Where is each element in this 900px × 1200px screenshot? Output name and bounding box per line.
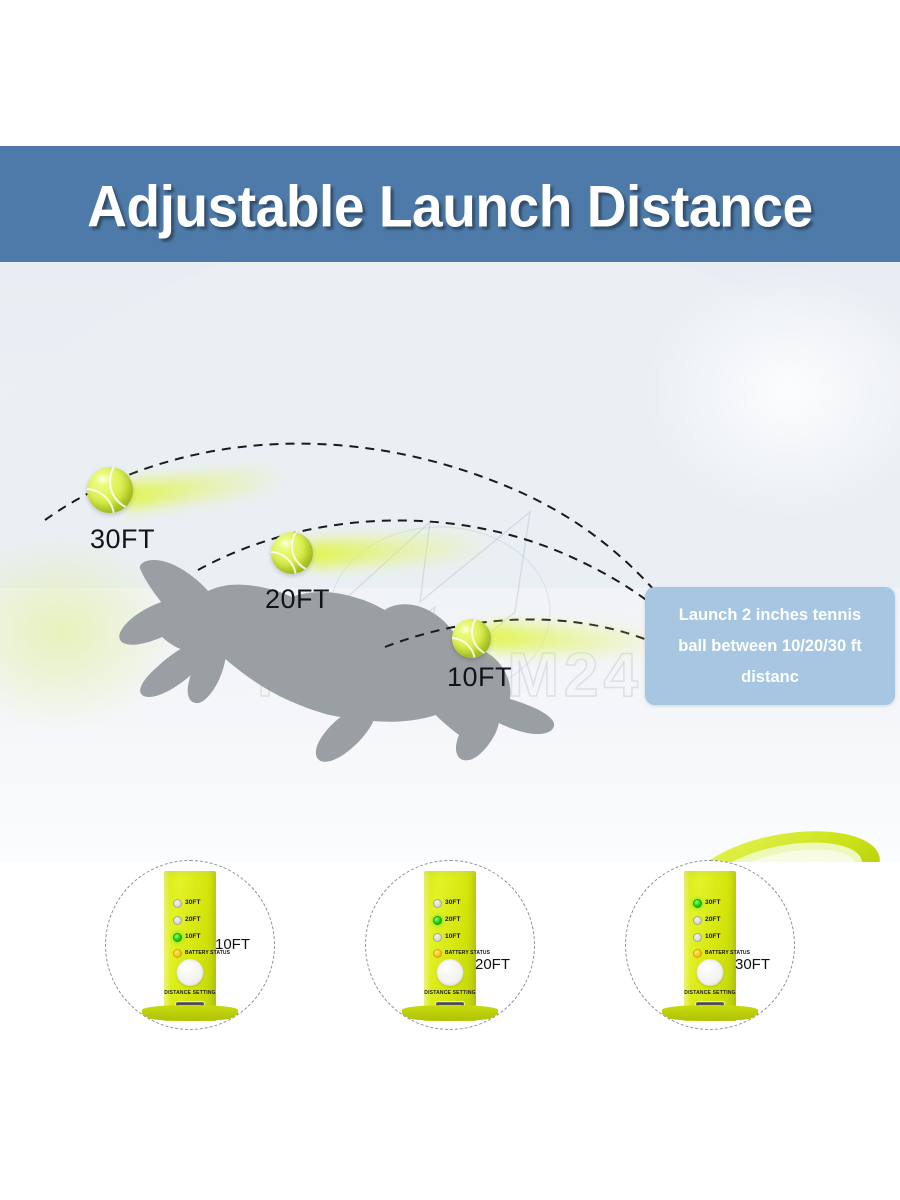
- distance-setting-label: DISTANCE SETTING: [424, 990, 475, 996]
- ball-launcher-device: [595, 812, 900, 862]
- led-20ft-indicator: [433, 916, 442, 925]
- callout-line-1: Launch 2 inches tennis: [679, 600, 861, 631]
- tennis-ball-10ft: [452, 619, 491, 658]
- led-30ft-label: 30FT: [705, 900, 721, 907]
- panel-circle-20ft: 30FT 20FT 10FT BATTERY STATUS: [365, 860, 535, 1030]
- callout-line-2: ball between 10/20/30 ft: [678, 631, 861, 662]
- trajectory-arcs: [0, 262, 900, 862]
- distance-label-20ft: 20FT: [265, 584, 330, 615]
- distance-setting-label: DISTANCE SETTING: [684, 990, 735, 996]
- panel-caption-20ft: 20FT: [475, 956, 510, 973]
- led-30ft-indicator: [173, 899, 182, 908]
- led-battery-indicator: [433, 949, 442, 958]
- led-10ft-label: 10FT: [445, 934, 461, 941]
- tennis-ball-20ft: [271, 532, 313, 574]
- callout-box: Launch 2 inches tennis ball between 10/2…: [645, 587, 895, 705]
- led-10ft-label: 10FT: [185, 934, 201, 941]
- page-title: Adjustable Launch Distance: [0, 174, 900, 241]
- led-30ft-indicator: [693, 899, 702, 908]
- led-battery-indicator: [173, 949, 182, 958]
- panel-circle-30ft: 30FT 20FT 10FT BATTERY STATUS: [625, 860, 795, 1030]
- distance-setting-button[interactable]: [697, 959, 724, 986]
- distance-label-30ft: 30FT: [90, 524, 155, 555]
- led-20ft-indicator: [173, 916, 182, 925]
- control-panel-30ft: 30FT 20FT 10FT BATTERY STATUS: [684, 871, 736, 1021]
- page-title-text: Adjustable Launch Distance: [87, 174, 813, 241]
- panel-caption-10ft: 10FT: [215, 936, 250, 953]
- control-panel-10ft: 30FT 20FT 10FT BATTERY STATUS: [164, 871, 216, 1021]
- main-scene: MINICAM24 30FT 20FT: [0, 262, 900, 862]
- callout-line-3: distanc: [741, 662, 799, 693]
- distance-setting-button[interactable]: [437, 959, 464, 986]
- led-30ft-label: 30FT: [185, 900, 201, 907]
- panel-base: [402, 1005, 498, 1021]
- distance-setting-label: DISTANCE SETTING: [164, 990, 215, 996]
- led-10ft-indicator: [173, 933, 182, 942]
- led-20ft-label: 20FT: [445, 917, 461, 924]
- distance-setting-button[interactable]: [177, 959, 204, 986]
- control-panel-20ft: 30FT 20FT 10FT BATTERY STATUS: [424, 871, 476, 1021]
- tennis-ball-30ft: [87, 467, 133, 513]
- panel-example-20ft: 30FT 20FT 10FT BATTERY STATUS: [365, 860, 535, 1040]
- product-infographic: Adjustable Launch Distance MINICAM24 30F…: [0, 0, 900, 1200]
- led-10ft-indicator: [693, 933, 702, 942]
- led-10ft-indicator: [433, 933, 442, 942]
- led-30ft-indicator: [433, 899, 442, 908]
- distance-label-10ft: 10FT: [447, 662, 512, 693]
- panel-caption-30ft: 30FT: [735, 956, 770, 973]
- led-20ft-label: 20FT: [185, 917, 201, 924]
- panel-base: [662, 1005, 758, 1021]
- led-10ft-label: 10FT: [705, 934, 721, 941]
- header-banner: Adjustable Launch Distance: [0, 146, 900, 268]
- panel-example-10ft: 30FT 20FT 10FT BATTERY STATUS: [105, 860, 275, 1040]
- led-20ft-indicator: [693, 916, 702, 925]
- led-battery-indicator: [693, 949, 702, 958]
- panel-base: [142, 1005, 238, 1021]
- control-panel-examples: 30FT 20FT 10FT BATTERY STATUS: [0, 860, 900, 1060]
- led-20ft-label: 20FT: [705, 917, 721, 924]
- led-30ft-label: 30FT: [445, 900, 461, 907]
- panel-example-30ft: 30FT 20FT 10FT BATTERY STATUS: [625, 860, 795, 1040]
